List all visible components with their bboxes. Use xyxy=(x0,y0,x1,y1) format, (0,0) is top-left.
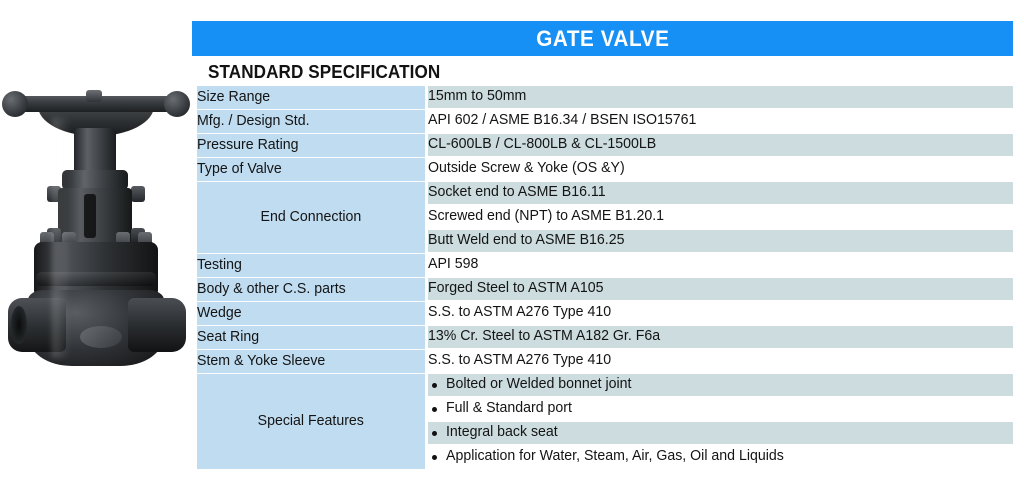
row-value: 13% Cr. Steel to ASTM A182 Gr. F6a xyxy=(428,326,1013,350)
bullet-icon xyxy=(432,431,437,436)
table-row: Size Range 15mm to 50mm xyxy=(197,86,1013,110)
page-title: GATE VALVE xyxy=(536,26,669,52)
row-value-feature: Bolted or Welded bonnet joint xyxy=(428,374,1013,398)
row-value: CL-600LB / CL-800LB & CL-1500LB xyxy=(428,134,1013,158)
row-value: Forged Steel to ASTM A105 xyxy=(428,278,1013,302)
bullet-icon xyxy=(432,455,437,460)
row-label: Size Range xyxy=(197,86,425,110)
row-value: Socket end to ASME B16.11 xyxy=(428,182,1013,206)
table-row-special-features: Special Features Bolted or Welded bonnet… xyxy=(197,374,1013,398)
table-row: Wedge S.S. to ASTM A276 Type 410 xyxy=(197,302,1013,326)
table-row: End Connection Socket end to ASME B16.11 xyxy=(197,182,1013,206)
gate-valve-illustration xyxy=(0,58,192,378)
handwheel-grip-right xyxy=(164,91,190,117)
table-row: Type of Valve Outside Screw & Yoke (OS &… xyxy=(197,158,1013,182)
row-label: Stem & Yoke Sleeve xyxy=(197,350,425,374)
row-label-special-features: Special Features xyxy=(197,374,425,470)
row-label: Body & other C.S. parts xyxy=(197,278,425,302)
table-row: Body & other C.S. parts Forged Steel to … xyxy=(197,278,1013,302)
datasheet-page: GATE VALVE STANDARD SPECIFICATION Size R… xyxy=(0,0,1024,477)
table-row: Mfg. / Design Std. API 602 / ASME B16.34… xyxy=(197,110,1013,134)
row-value-feature: Full & Standard port xyxy=(428,398,1013,422)
row-label: Type of Valve xyxy=(197,158,425,182)
table-row: Stem & Yoke Sleeve S.S. to ASTM A276 Typ… xyxy=(197,350,1013,374)
row-value: S.S. to ASTM A276 Type 410 xyxy=(428,302,1013,326)
handwheel-grip-left xyxy=(2,91,28,117)
highlight-sheen xyxy=(52,118,70,358)
row-value: Outside Screw & Yoke (OS &Y) xyxy=(428,158,1013,182)
socket-end-right xyxy=(128,298,186,352)
row-label: Seat Ring xyxy=(197,326,425,350)
row-value-feature: Integral back seat xyxy=(428,422,1013,446)
stem-nut xyxy=(86,90,102,102)
row-value: API 598 xyxy=(428,254,1013,278)
row-value: Butt Weld end to ASME B16.25 xyxy=(428,230,1013,254)
row-value: Screwed end (NPT) to ASME B1.20.1 xyxy=(428,206,1013,230)
row-label: Testing xyxy=(197,254,425,278)
yoke-ear-right xyxy=(131,186,145,202)
row-label: Wedge xyxy=(197,302,425,326)
product-photo xyxy=(0,58,192,378)
row-value-feature: Application for Water, Steam, Air, Gas, … xyxy=(428,446,1013,470)
table-row: Seat Ring 13% Cr. Steel to ASTM A182 Gr.… xyxy=(197,326,1013,350)
row-label: Pressure Rating xyxy=(197,134,425,158)
row-label: Mfg. / Design Std. xyxy=(197,110,425,134)
row-value: API 602 / ASME B16.34 / BSEN ISO15761 xyxy=(428,110,1013,134)
section-heading: STANDARD SPECIFICATION xyxy=(208,58,440,86)
table-row: Pressure Rating CL-600LB / CL-800LB & CL… xyxy=(197,134,1013,158)
row-value: 15mm to 50mm xyxy=(428,86,1013,110)
specification-table: Size Range 15mm to 50mm Mfg. / Design St… xyxy=(197,86,1013,470)
page-title-bar: GATE VALVE xyxy=(192,21,1013,56)
bullet-icon xyxy=(432,383,437,388)
yoke-slot xyxy=(84,194,96,238)
body-marking xyxy=(80,326,122,348)
row-value: S.S. to ASTM A276 Type 410 xyxy=(428,350,1013,374)
table-row: Testing API 598 xyxy=(197,254,1013,278)
row-label-end-connection: End Connection xyxy=(197,182,425,254)
gland-flange xyxy=(62,170,128,190)
bullet-icon xyxy=(432,407,437,412)
